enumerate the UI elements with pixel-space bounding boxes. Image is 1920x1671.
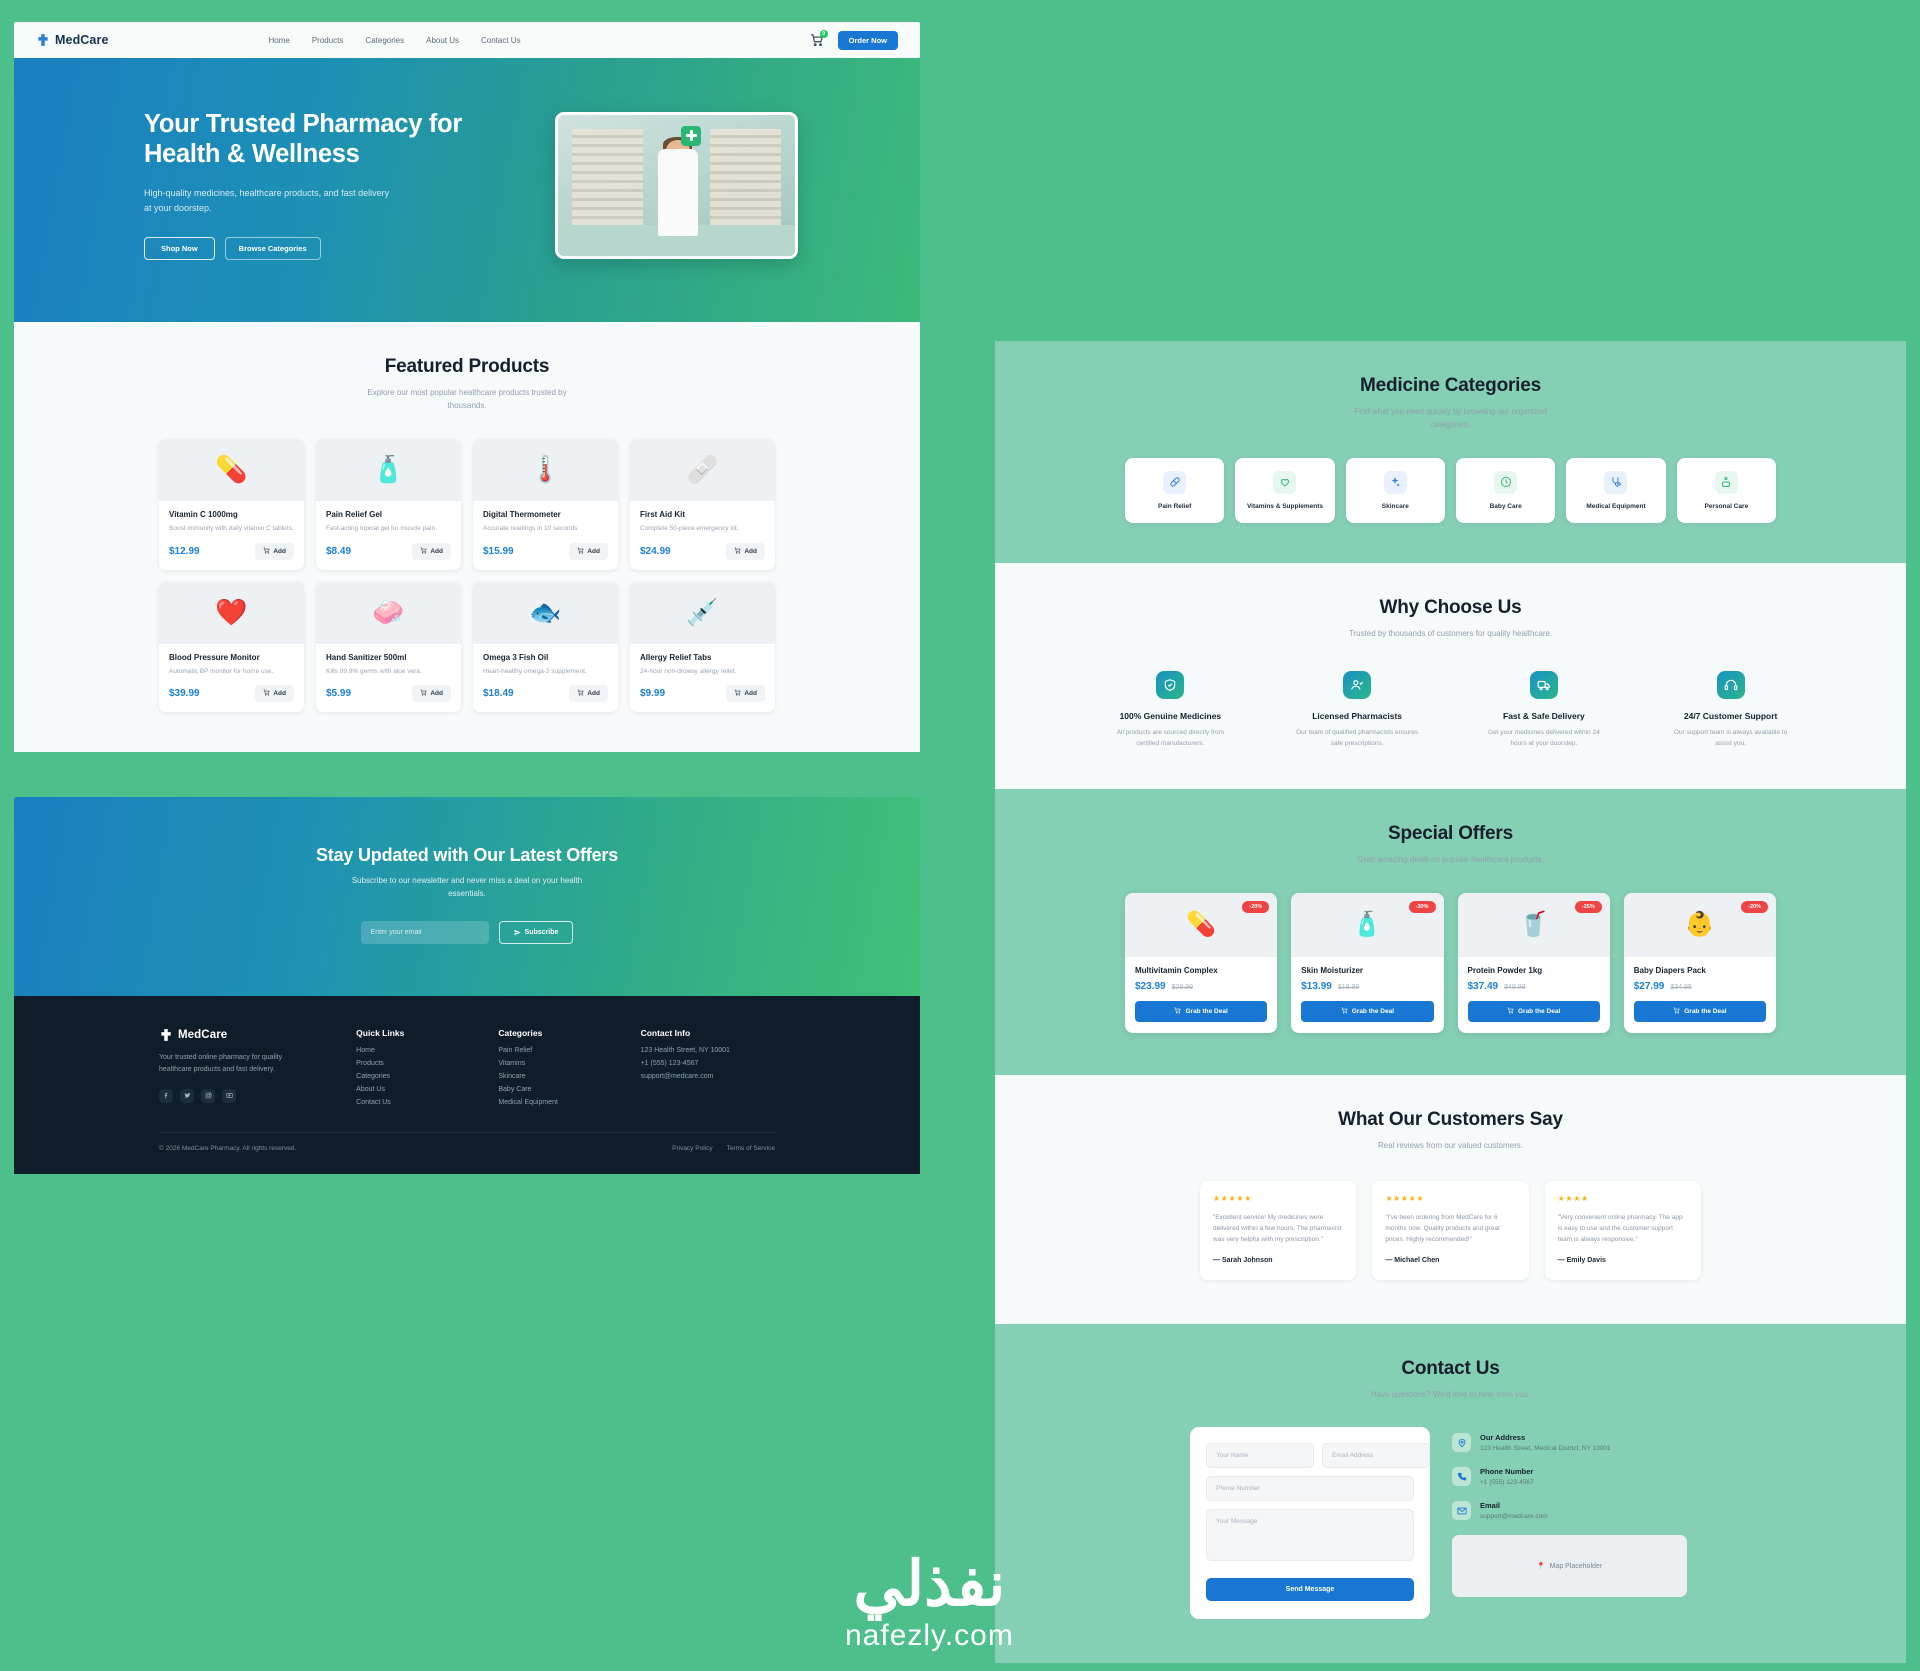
cart-icon bbox=[734, 547, 741, 556]
map-placeholder-label: Map Placeholder bbox=[1550, 1563, 1603, 1570]
footer-link[interactable]: Contact Us bbox=[356, 1099, 478, 1106]
grab-deal-label: Grab the Deal bbox=[1684, 1008, 1726, 1015]
add-label: Add bbox=[273, 690, 286, 697]
footer-link[interactable]: Products bbox=[356, 1060, 478, 1067]
add-to-cart-button[interactable]: Add bbox=[255, 543, 294, 560]
add-to-cart-button[interactable]: Add bbox=[569, 543, 608, 560]
shield-check-icon bbox=[1156, 671, 1184, 699]
product-card[interactable]: 🩹 First Aid Kit Complete 50-piece emerge… bbox=[630, 439, 775, 570]
footer-link[interactable]: Home bbox=[356, 1047, 478, 1054]
contact-header: Contact Us Have questions? We'd love to … bbox=[995, 1324, 1906, 1402]
hero-actions: Shop Now Browse Categories bbox=[144, 237, 529, 260]
footer-contact-title: Contact Info bbox=[641, 1028, 775, 1038]
contact-form: Send Message bbox=[1190, 1427, 1430, 1619]
contact-info-row: Our Address 123 Health Street, Medical D… bbox=[1452, 1433, 1687, 1452]
footer-quick-links-list: HomeProductsCategoriesAbout UsContact Us bbox=[356, 1047, 478, 1106]
star-rating: ★★★★★ bbox=[1385, 1194, 1515, 1203]
grab-the-deal-button[interactable]: Grab the Deal bbox=[1301, 1001, 1433, 1022]
pharmacist-figure bbox=[658, 149, 698, 236]
contact-info-row: Phone Number +1 (555) 123-4567 bbox=[1452, 1467, 1687, 1486]
footer-contact-list: 123 Health Street, NY 10001+1 (555) 123-… bbox=[641, 1047, 775, 1080]
offers-title: Special Offers bbox=[995, 823, 1906, 845]
contact-section: Contact Us Have questions? We'd love to … bbox=[995, 1324, 1906, 1664]
why-item: Fast & Safe Delivery Get your medicines … bbox=[1459, 671, 1630, 749]
stethoscope-icon bbox=[1604, 471, 1627, 494]
testimonial-text: "Excellent service! My medicines were de… bbox=[1213, 1212, 1343, 1246]
instagram-icon[interactable] bbox=[201, 1089, 215, 1103]
shop-now-button[interactable]: Shop Now bbox=[144, 237, 215, 260]
product-card[interactable]: 💊 Vitamin C 1000mg Boost immunity with d… bbox=[159, 439, 304, 570]
cart-icon bbox=[1174, 1007, 1181, 1016]
categories-title: Medicine Categories bbox=[995, 375, 1906, 397]
contact-info-value: support@medcare.com bbox=[1480, 1513, 1548, 1520]
cart-icon bbox=[1341, 1007, 1348, 1016]
product-price: $8.49 bbox=[326, 546, 351, 557]
terms-of-service-link[interactable]: Terms of Service bbox=[727, 1145, 775, 1152]
grab-the-deal-button[interactable]: Grab the Deal bbox=[1135, 1001, 1267, 1022]
nav-link-products[interactable]: Products bbox=[312, 36, 344, 45]
product-image: 💉 bbox=[630, 582, 775, 644]
footer-brand-name: MedCare bbox=[178, 1029, 227, 1041]
why-item: 24/7 Customer Support Our support team i… bbox=[1645, 671, 1816, 749]
footer-categories-title: Categories bbox=[498, 1028, 620, 1038]
contact-info-value: 123 Health Street, Medical District, NY … bbox=[1480, 1445, 1611, 1452]
footer-contact-item: 123 Health Street, NY 10001 bbox=[641, 1047, 775, 1054]
categories-grid: Pain Relief Vitamins & Supplements Skinc… bbox=[995, 432, 1906, 564]
testimonial-author: — Emily Davis bbox=[1558, 1257, 1688, 1264]
add-label: Add bbox=[587, 548, 600, 555]
add-label: Add bbox=[430, 548, 443, 555]
category-card[interactable]: Vitamins & Supplements bbox=[1235, 458, 1334, 524]
product-image: 🧼 bbox=[316, 582, 461, 644]
product-name: Blood Pressure Monitor bbox=[169, 653, 294, 662]
order-now-button[interactable]: Order Now bbox=[838, 31, 898, 50]
footer-categories-list: Pain ReliefVitaminsSkincareBaby CareMedi… bbox=[498, 1047, 620, 1106]
footer-category-link[interactable]: Vitamins bbox=[498, 1060, 620, 1067]
location-pin-icon: 📍 bbox=[1537, 1562, 1546, 1570]
cart-icon bbox=[1673, 1007, 1680, 1016]
product-description: Accurate readings in 10 seconds. bbox=[483, 524, 608, 534]
phone-icon bbox=[1452, 1467, 1471, 1486]
browse-categories-button[interactable]: Browse Categories bbox=[225, 237, 321, 260]
product-card[interactable]: 🧴 Pain Relief Gel Fast-acting topical ge… bbox=[316, 439, 461, 570]
contact-body: Send Message Our Address 123 Health Stre… bbox=[995, 1401, 1906, 1663]
send-icon bbox=[514, 929, 521, 936]
category-label: Baby Care bbox=[1490, 503, 1522, 512]
nav-link-about-us[interactable]: About Us bbox=[426, 36, 459, 45]
categories-header: Medicine Categories Find what you need q… bbox=[995, 341, 1906, 432]
product-price: $18.49 bbox=[483, 688, 514, 699]
message-field[interactable] bbox=[1206, 1509, 1414, 1561]
nav-link-home[interactable]: Home bbox=[269, 36, 290, 45]
map-placeholder[interactable]: 📍 Map Placeholder bbox=[1452, 1535, 1687, 1597]
offers-header: Special Offers Grab amazing deals on pop… bbox=[995, 789, 1906, 867]
nav-link-contact-us[interactable]: Contact Us bbox=[481, 36, 521, 45]
brand-name: MedCare bbox=[55, 33, 109, 47]
subscribe-button[interactable]: Subscribe bbox=[499, 921, 574, 944]
product-image: 🐟 bbox=[473, 582, 618, 644]
send-message-button[interactable]: Send Message bbox=[1206, 1578, 1414, 1601]
product-image: 🧴 bbox=[316, 439, 461, 501]
testimonials-title: What Our Customers Say bbox=[995, 1109, 1906, 1131]
newsletter-section: Stay Updated with Our Latest Offers Subs… bbox=[14, 797, 920, 996]
hero-pharmacy-image bbox=[555, 112, 798, 259]
footer-contact-item: +1 (555) 123-4567 bbox=[641, 1060, 775, 1067]
offer-price: $13.99 bbox=[1301, 981, 1332, 992]
special-offers-section: Special Offers Grab amazing deals on pop… bbox=[995, 789, 1906, 1075]
product-name: First Aid Kit bbox=[640, 510, 765, 519]
cart-icon bbox=[1507, 1007, 1514, 1016]
featured-products-grid: 💊 Vitamin C 1000mg Boost immunity with d… bbox=[14, 413, 920, 753]
add-label: Add bbox=[744, 548, 757, 555]
delivery-truck-icon bbox=[1530, 671, 1558, 699]
offer-card[interactable]: 💊 -20% Multivitamin Complex $23.99 $29.9… bbox=[1125, 893, 1277, 1033]
footer-contact-column: Contact Info 123 Health Street, NY 10001… bbox=[641, 1028, 775, 1106]
why-grid: 100% Genuine Medicines All products are … bbox=[995, 641, 1906, 789]
watermark-english: nafezly.com bbox=[845, 1619, 1014, 1653]
contact-info-value: +1 (555) 123-4567 bbox=[1480, 1479, 1534, 1486]
cart-icon bbox=[734, 689, 741, 698]
navbar-actions: 0 Order Now bbox=[810, 31, 898, 50]
cart-icon bbox=[420, 547, 427, 556]
soap-icon bbox=[1715, 471, 1738, 494]
phone-field[interactable] bbox=[1206, 1476, 1414, 1501]
contact-info-title: Our Address bbox=[1480, 1433, 1611, 1442]
offer-card[interactable]: 🥤 -25% Protein Powder 1kg $37.49 $49.99 … bbox=[1458, 893, 1610, 1033]
category-card[interactable]: Skincare bbox=[1346, 458, 1445, 524]
product-price: $5.99 bbox=[326, 688, 351, 699]
product-name: Vitamin C 1000mg bbox=[169, 510, 294, 519]
email-icon bbox=[1452, 1501, 1471, 1520]
cart-icon bbox=[263, 547, 270, 556]
footer-category-link[interactable]: Skincare bbox=[498, 1073, 620, 1080]
contact-info-title: Email bbox=[1480, 1501, 1548, 1510]
offer-old-price: $49.99 bbox=[1504, 984, 1525, 991]
discount-badge: -20% bbox=[1242, 901, 1269, 913]
product-image: 🩹 bbox=[630, 439, 775, 501]
footer-category-link[interactable]: Pain Relief bbox=[498, 1047, 620, 1054]
nav-link-categories[interactable]: Categories bbox=[365, 36, 404, 45]
right-preview-column: Medicine Categories Find what you need q… bbox=[995, 341, 1906, 1663]
product-price: $15.99 bbox=[483, 546, 514, 557]
contact-subtitle: Have questions? We'd love to hear from y… bbox=[1343, 1389, 1558, 1402]
hero-title: Your Trusted Pharmacy for Health & Welln… bbox=[144, 110, 529, 170]
category-card[interactable]: Pain Relief bbox=[1125, 458, 1224, 524]
discount-badge: -30% bbox=[1409, 901, 1436, 913]
offer-price: $23.99 bbox=[1135, 981, 1166, 992]
product-description: Automatic BP monitor for home use. bbox=[169, 667, 294, 677]
product-price: $9.99 bbox=[640, 688, 665, 699]
category-label: Personal Care bbox=[1704, 503, 1748, 512]
testimonial-card: ★★★★★ "I've been ordering from MedCare f… bbox=[1372, 1181, 1528, 1280]
footer-quick-links-column: Quick Links HomeProductsCategoriesAbout … bbox=[356, 1028, 478, 1106]
testimonials-section: What Our Customers Say Real reviews from… bbox=[995, 1075, 1906, 1324]
category-card[interactable]: Personal Care bbox=[1677, 458, 1776, 524]
category-label: Skincare bbox=[1382, 503, 1409, 512]
grab-deal-label: Grab the Deal bbox=[1518, 1008, 1560, 1015]
product-card[interactable]: 🐟 Omega 3 Fish Oil Heart-healthy omega-3… bbox=[473, 582, 618, 713]
site-footer: MedCare Your trusted online pharmacy for… bbox=[14, 996, 920, 1174]
product-description: Complete 50-piece emergency kit. bbox=[640, 524, 765, 534]
why-item-title: 100% Genuine Medicines bbox=[1120, 711, 1222, 721]
twitter-icon[interactable] bbox=[180, 1089, 194, 1103]
offer-card[interactable]: 🧴 -30% Skin Moisturizer $13.99 $19.99 Gr… bbox=[1291, 893, 1443, 1033]
testimonial-card: ★★★★ "Very convenient online pharmacy. T… bbox=[1545, 1181, 1701, 1280]
category-label: Vitamins & Supplements bbox=[1247, 503, 1323, 512]
testimonial-author: — Michael Chen bbox=[1385, 1257, 1515, 1264]
medical-cross-icon bbox=[36, 33, 50, 47]
footer-link[interactable]: About Us bbox=[356, 1086, 478, 1093]
heart-outline-icon bbox=[1273, 471, 1296, 494]
product-description: Kills 99.9% germs with aloe vera. bbox=[326, 667, 451, 677]
product-price: $24.99 bbox=[640, 546, 671, 557]
offers-grid: 💊 -20% Multivitamin Complex $23.99 $29.9… bbox=[995, 867, 1906, 1075]
add-to-cart-button[interactable]: Add bbox=[412, 543, 451, 560]
nafezly-watermark: نفذلي nafezly.com bbox=[845, 1556, 1014, 1653]
offer-old-price: $34.99 bbox=[1670, 984, 1691, 991]
why-header: Why Choose Us Trusted by thousands of cu… bbox=[995, 563, 1906, 641]
location-pin-icon bbox=[1452, 1433, 1471, 1452]
product-card[interactable]: 🧼 Hand Sanitizer 500ml Kills 99.9% germs… bbox=[316, 582, 461, 713]
why-title: Why Choose Us bbox=[995, 597, 1906, 619]
testimonials-header: What Our Customers Say Real reviews from… bbox=[995, 1075, 1906, 1153]
cart-icon bbox=[263, 689, 270, 698]
add-label: Add bbox=[744, 690, 757, 697]
shelf-right bbox=[710, 129, 781, 231]
watermark-arabic: نفذلي bbox=[845, 1556, 1014, 1615]
facebook-icon[interactable] bbox=[159, 1089, 173, 1103]
privacy-policy-link[interactable]: Privacy Policy bbox=[672, 1145, 712, 1152]
grab-deal-label: Grab the Deal bbox=[1352, 1008, 1394, 1015]
green-cross-icon bbox=[681, 126, 701, 146]
why-item: 100% Genuine Medicines All products are … bbox=[1085, 671, 1256, 749]
category-label: Pain Relief bbox=[1158, 503, 1191, 512]
grab-the-deal-button[interactable]: Grab the Deal bbox=[1634, 1001, 1766, 1022]
footer-social-links bbox=[159, 1089, 336, 1103]
offers-subtitle: Grab amazing deals on popular healthcare… bbox=[1343, 854, 1558, 867]
grab-deal-label: Grab the Deal bbox=[1185, 1008, 1227, 1015]
offer-price: $37.49 bbox=[1468, 981, 1499, 992]
offer-price: $27.99 bbox=[1634, 981, 1665, 992]
subscribe-label: Subscribe bbox=[525, 929, 559, 936]
footer-link[interactable]: Categories bbox=[356, 1073, 478, 1080]
why-item: Licensed Pharmacists Our team of qualifi… bbox=[1272, 671, 1443, 749]
footer-logo[interactable]: MedCare bbox=[159, 1028, 336, 1042]
footer-category-link[interactable]: Medical Equipment bbox=[498, 1099, 620, 1106]
product-name: Pain Relief Gel bbox=[326, 510, 451, 519]
add-to-cart-button[interactable]: Add bbox=[726, 543, 765, 560]
contact-info-panel: Our Address 123 Health Street, Medical D… bbox=[1452, 1427, 1687, 1619]
grab-the-deal-button[interactable]: Grab the Deal bbox=[1468, 1001, 1600, 1022]
why-item-description: Our support team is always available to … bbox=[1667, 728, 1795, 749]
testimonial-text: "I've been ordering from MedCare for 6 m… bbox=[1385, 1212, 1515, 1246]
discount-badge: -20% bbox=[1741, 901, 1768, 913]
offer-name: Protein Powder 1kg bbox=[1468, 966, 1600, 975]
footer-brand-column: MedCare Your trusted online pharmacy for… bbox=[159, 1028, 336, 1106]
contact-info-list: Our Address 123 Health Street, Medical D… bbox=[1452, 1433, 1687, 1520]
add-label: Add bbox=[430, 690, 443, 697]
footer-legal-links: Privacy Policy Terms of Service bbox=[672, 1145, 775, 1152]
add-label: Add bbox=[587, 690, 600, 697]
name-field[interactable] bbox=[1206, 1443, 1314, 1468]
offer-card[interactable]: 👶 -20% Baby Diapers Pack $27.99 $34.99 G… bbox=[1624, 893, 1776, 1033]
footer-category-link[interactable]: Baby Care bbox=[498, 1086, 620, 1093]
why-choose-us-section: Why Choose Us Trusted by thousands of cu… bbox=[995, 563, 1906, 789]
product-name: Allergy Relief Tabs bbox=[640, 653, 765, 662]
product-image: ❤️ bbox=[159, 582, 304, 644]
why-item-description: All products are sourced directly from c… bbox=[1106, 728, 1234, 749]
why-item-description: Our team of qualified pharmacists ensure… bbox=[1293, 728, 1421, 749]
testimonial-author: — Sarah Johnson bbox=[1213, 1257, 1343, 1264]
product-image: 🌡️ bbox=[473, 439, 618, 501]
featured-products-section: Featured Products Explore our most popul… bbox=[14, 322, 920, 752]
product-card[interactable]: ❤️ Blood Pressure Monitor Automatic BP m… bbox=[159, 582, 304, 713]
testimonial-card: ★★★★★ "Excellent service! My medicines w… bbox=[1200, 1181, 1356, 1280]
product-price: $12.99 bbox=[169, 546, 200, 557]
footer-columns: MedCare Your trusted online pharmacy for… bbox=[159, 1028, 775, 1106]
product-description: Fast-acting topical gel for muscle pain. bbox=[326, 524, 451, 534]
cart-count-badge: 0 bbox=[820, 30, 828, 38]
sparkle-icon bbox=[1384, 471, 1407, 494]
footer-bottom-bar: © 2026 MedCare Pharmacy. All rights rese… bbox=[159, 1132, 775, 1152]
testimonial-text: "Very convenient online pharmacy. The ap… bbox=[1558, 1212, 1688, 1246]
newsletter-title: Stay Updated with Our Latest Offers bbox=[14, 845, 920, 866]
left-preview-column: MedCare Home Products Categories About U… bbox=[14, 22, 920, 1174]
why-item-title: 24/7 Customer Support bbox=[1684, 711, 1778, 721]
footer-categories-column: Categories Pain ReliefVitaminsSkincareBa… bbox=[498, 1028, 620, 1106]
product-price: $39.99 bbox=[169, 688, 200, 699]
name-email-row bbox=[1206, 1443, 1414, 1468]
contact-title: Contact Us bbox=[995, 1358, 1906, 1380]
why-item-title: Fast & Safe Delivery bbox=[1503, 711, 1585, 721]
product-card[interactable]: 🌡️ Digital Thermometer Accurate readings… bbox=[473, 439, 618, 570]
product-description: Boost immunity with daily vitamin C tabl… bbox=[169, 524, 294, 534]
offer-name: Multivitamin Complex bbox=[1135, 966, 1267, 975]
category-card[interactable]: Baby Care bbox=[1456, 458, 1555, 524]
featured-title: Featured Products bbox=[14, 356, 920, 378]
shelf-left bbox=[572, 129, 643, 231]
add-to-cart-button[interactable]: Add bbox=[412, 685, 451, 702]
product-description: 24-hour non-drowsy allergy relief. bbox=[640, 667, 765, 677]
product-description: Heart-healthy omega-3 supplement. bbox=[483, 667, 608, 677]
email-field[interactable] bbox=[1322, 1443, 1430, 1468]
primary-nav: Home Products Categories About Us Contac… bbox=[269, 36, 521, 45]
headset-icon bbox=[1717, 671, 1745, 699]
offer-name: Skin Moisturizer bbox=[1301, 966, 1433, 975]
discount-badge: -25% bbox=[1575, 901, 1602, 913]
why-item-title: Licensed Pharmacists bbox=[1312, 711, 1402, 721]
footer-copyright: © 2026 MedCare Pharmacy. All rights rese… bbox=[159, 1145, 296, 1152]
testimonials-subtitle: Real reviews from our valued customers. bbox=[1343, 1140, 1558, 1153]
brand-logo[interactable]: MedCare bbox=[36, 33, 109, 47]
cart-icon bbox=[420, 689, 427, 698]
featured-subtitle: Explore our most popular healthcare prod… bbox=[360, 387, 575, 413]
add-label: Add bbox=[273, 548, 286, 555]
star-rating: ★★★★★ bbox=[1213, 1194, 1343, 1203]
cart-icon bbox=[577, 689, 584, 698]
baby-bottle-icon bbox=[1494, 471, 1517, 494]
site-navbar: MedCare Home Products Categories About U… bbox=[14, 22, 920, 58]
footer-contact-item: support@medcare.com bbox=[641, 1073, 775, 1080]
newsletter-subtitle: Subscribe to our newsletter and never mi… bbox=[347, 875, 587, 901]
star-rating: ★★★★ bbox=[1558, 1194, 1688, 1203]
user-check-icon bbox=[1343, 671, 1371, 699]
cart-icon[interactable]: 0 bbox=[810, 33, 824, 47]
add-to-cart-button[interactable]: Add bbox=[726, 685, 765, 702]
offer-name: Baby Diapers Pack bbox=[1634, 966, 1766, 975]
product-name: Hand Sanitizer 500ml bbox=[326, 653, 451, 662]
featured-header: Featured Products Explore our most popul… bbox=[14, 322, 920, 413]
medical-cross-icon bbox=[159, 1028, 173, 1042]
add-to-cart-button[interactable]: Add bbox=[255, 685, 294, 702]
footer-quick-links-title: Quick Links bbox=[356, 1028, 478, 1038]
contact-info-title: Phone Number bbox=[1480, 1467, 1534, 1476]
offer-old-price: $19.99 bbox=[1338, 984, 1359, 991]
product-name: Digital Thermometer bbox=[483, 510, 608, 519]
newsletter-email-input[interactable] bbox=[361, 921, 489, 944]
newsletter-form: Subscribe bbox=[14, 921, 920, 944]
hero-subtitle: High-quality medicines, healthcare produ… bbox=[144, 186, 394, 216]
pill-icon bbox=[1163, 471, 1186, 494]
contact-info-row: Email support@medcare.com bbox=[1452, 1501, 1687, 1520]
product-image: 💊 bbox=[159, 439, 304, 501]
cart-icon bbox=[577, 547, 584, 556]
hero-section: Your Trusted Pharmacy for Health & Welln… bbox=[14, 58, 920, 322]
category-card[interactable]: Medical Equipment bbox=[1566, 458, 1665, 524]
hero-copy: Your Trusted Pharmacy for Health & Welln… bbox=[144, 110, 529, 260]
why-subtitle: Trusted by thousands of customers for qu… bbox=[1343, 628, 1558, 641]
category-label: Medical Equipment bbox=[1586, 503, 1645, 512]
product-name: Omega 3 Fish Oil bbox=[483, 653, 608, 662]
categories-subtitle: Find what you need quickly by browsing o… bbox=[1343, 406, 1558, 432]
offer-old-price: $29.99 bbox=[1172, 984, 1193, 991]
testimonials-grid: ★★★★★ "Excellent service! My medicines w… bbox=[995, 1153, 1906, 1324]
why-item-description: Get your medicines delivered within 24 h… bbox=[1480, 728, 1608, 749]
youtube-icon[interactable] bbox=[222, 1089, 236, 1103]
product-card[interactable]: 💉 Allergy Relief Tabs 24-hour non-drowsy… bbox=[630, 582, 775, 713]
add-to-cart-button[interactable]: Add bbox=[569, 685, 608, 702]
medicine-categories-section: Medicine Categories Find what you need q… bbox=[995, 341, 1906, 563]
footer-about-text: Your trusted online pharmacy for quality… bbox=[159, 1052, 314, 1077]
